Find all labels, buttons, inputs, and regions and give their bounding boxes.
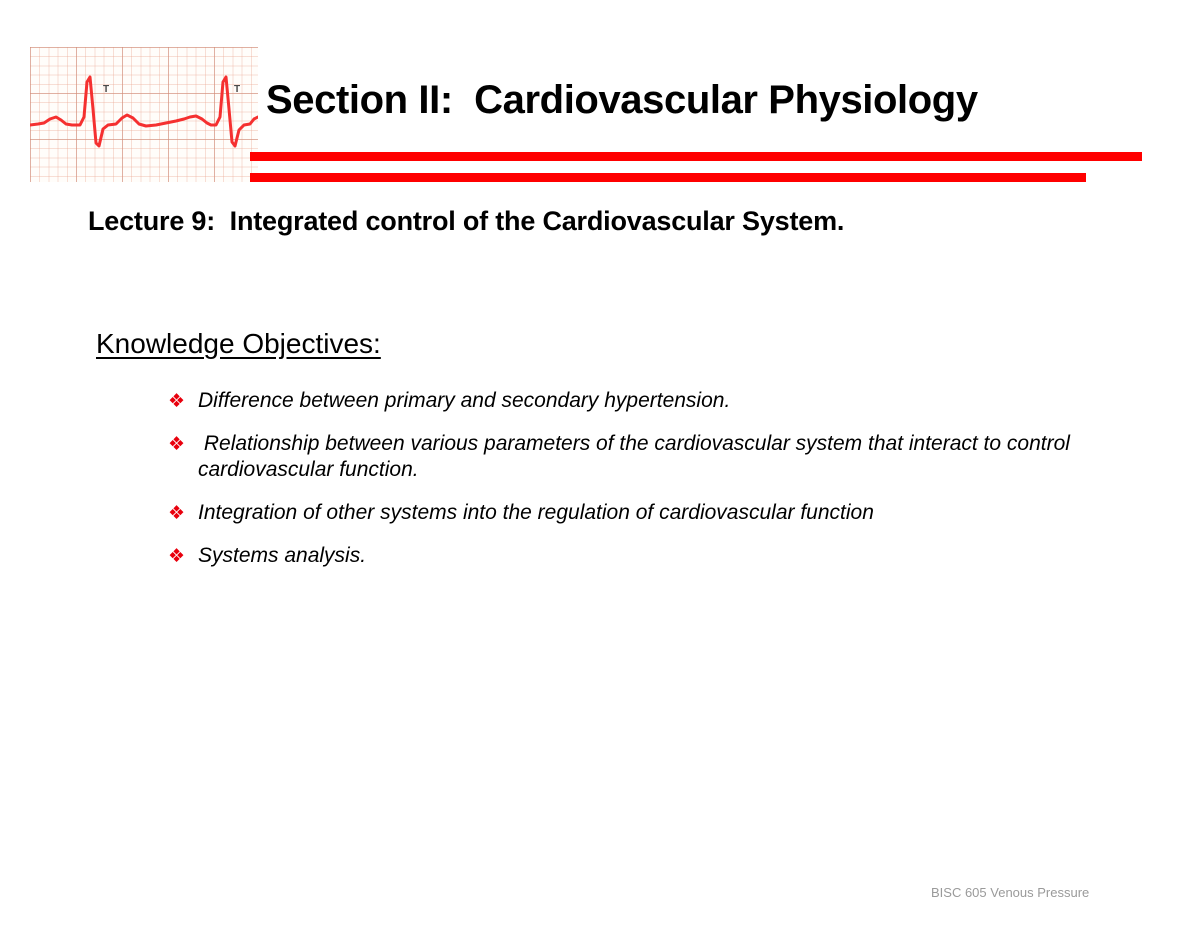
ecg-strip-image: T T [30, 47, 258, 182]
list-item: ❖ Integration of other systems into the … [168, 500, 1118, 526]
ecg-t-wave-label-2: T [234, 84, 240, 95]
title-rule-upper [250, 152, 1142, 161]
footer-line-course: BISC 605 Venous Pressure [931, 883, 1126, 902]
diamond-bullet-icon: ❖ [168, 543, 198, 569]
ecg-t-wave-label-1: T [103, 84, 109, 95]
ecg-trace-icon [30, 47, 258, 182]
list-item-text: Integration of other systems into the re… [198, 500, 1118, 526]
list-item: ❖ Systems analysis. [168, 543, 1118, 569]
list-item: ❖ Relationship between various parameter… [168, 431, 1118, 483]
diamond-bullet-icon: ❖ [168, 500, 198, 526]
slide-title: Section II: Cardiovascular Physiology [266, 78, 978, 123]
list-item-text: Difference between primary and secondary… [198, 388, 1118, 414]
knowledge-objectives-heading: Knowledge Objectives: [96, 328, 381, 360]
list-item-text: Systems analysis. [198, 543, 1118, 569]
diamond-bullet-icon: ❖ [168, 431, 198, 457]
slide-canvas: T T Section II: Cardiovascular Physiolog… [0, 0, 1200, 929]
list-item-text: Relationship between various parameters … [198, 431, 1088, 483]
list-item: ❖ Difference between primary and seconda… [168, 388, 1118, 414]
slide-footer: BISC 605 Venous Pressure Advanced Mammal… [931, 845, 1126, 929]
diamond-bullet-icon: ❖ [168, 388, 198, 414]
objectives-list: ❖ Difference between primary and seconda… [168, 388, 1118, 586]
title-rule-lower [250, 173, 1086, 182]
lecture-subtitle: Lecture 9: Integrated control of the Car… [88, 206, 844, 237]
